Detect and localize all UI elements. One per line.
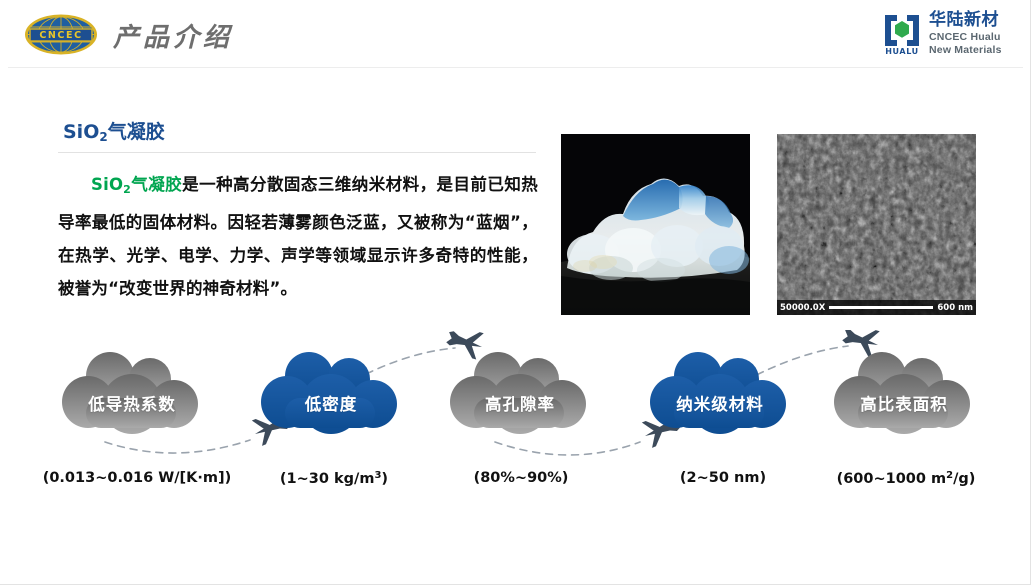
flight-path-3 (495, 442, 640, 455)
aerogel-photo-artwork (561, 134, 750, 315)
sem-scale-bar: 50000.0X 600 nm (777, 300, 976, 315)
caption-row: (0.013~0.016 W/[K·m]) (1~30 kg/m3) (80%~… (0, 470, 1031, 500)
aerogel-photo (561, 134, 750, 315)
body-paragraph: SiO2气凝胶是一种高分散固态三维纳米材料，是目前已知热导率最低的固体材料。因轻… (58, 168, 538, 305)
sem-magnification: 50000.0X (780, 303, 825, 313)
body-highlight-sub: 2 (123, 183, 131, 196)
caption-5: (600~1000 m2/g) (837, 470, 976, 487)
caption-1: (0.013~0.016 W/[K·m]) (43, 470, 232, 486)
cloud-item-3[interactable]: 高孔隙率 (446, 346, 594, 438)
caption-2-prefix: (1~30 kg/m (280, 471, 375, 487)
caption-5-prefix: (600~1000 m (837, 471, 947, 487)
svg-text:HUALU: HUALU (885, 47, 918, 56)
page-title: 产品介绍 (113, 17, 233, 54)
sem-scale-rule (829, 306, 933, 309)
cloud-item-2[interactable]: 低密度 (257, 346, 405, 438)
hualu-mark-icon: HUALU (881, 12, 923, 56)
caption-2-sup: 3 (374, 470, 381, 481)
section-heading-suffix: 气凝胶 (108, 121, 165, 143)
cloud-row: 低导热系数 低密度 (0, 330, 1031, 460)
body-highlight-prefix: SiO (91, 175, 123, 194)
sem-scale-length: 600 nm (937, 303, 973, 313)
section-heading-prefix: SiO (63, 121, 99, 143)
header-divider (8, 67, 1023, 68)
caption-3: (80%~90%) (474, 470, 569, 486)
caption-4: (2~50 nm) (680, 470, 766, 486)
hualu-en-line2: New Materials (929, 44, 1002, 56)
cloud-label-1: 低导热系数 (58, 346, 206, 438)
cloud-label-2: 低密度 (257, 346, 405, 438)
caption-5-sup: 2 (946, 470, 953, 481)
cloud-label-5: 高比表面积 (830, 346, 978, 438)
section-heading: SiO2气凝胶 (63, 117, 165, 144)
slide-header: CNCEC 产品介绍 HUALU 华陆新材 CNCEC Hualu New Ma… (0, 0, 1031, 68)
cloud-item-4[interactable]: 纳米级材料 (646, 346, 794, 438)
hualu-en-line1: CNCEC Hualu (929, 31, 1002, 43)
cncec-logo: CNCEC (22, 12, 100, 57)
caption-2: (1~30 kg/m3) (280, 470, 388, 487)
hualu-cn-name: 华陆新材 (929, 12, 1002, 29)
svg-text:CNCEC: CNCEC (39, 30, 82, 41)
caption-2-suffix: ) (381, 471, 388, 487)
body-highlight: SiO2气凝胶 (91, 175, 182, 194)
cloud-item-5[interactable]: 高比表面积 (830, 346, 978, 438)
flight-path-1 (105, 440, 250, 453)
cncec-hualu-logo: HUALU 华陆新材 CNCEC Hualu New Materials (881, 11, 1017, 57)
body-highlight-suffix: 气凝胶 (131, 175, 182, 194)
caption-5-suffix: /g) (953, 471, 975, 487)
sem-photo: 50000.0X 600 nm (777, 134, 976, 315)
cloud-item-1[interactable]: 低导热系数 (58, 346, 206, 438)
slide: CNCEC 产品介绍 HUALU 华陆新材 CNCEC Hualu New Ma… (0, 0, 1031, 585)
section-heading-sub: 2 (99, 130, 107, 144)
sem-photo-artwork (777, 134, 976, 315)
cloud-label-4: 纳米级材料 (646, 346, 794, 438)
cloud-label-3: 高孔隙率 (446, 346, 594, 438)
section-divider (58, 152, 536, 153)
